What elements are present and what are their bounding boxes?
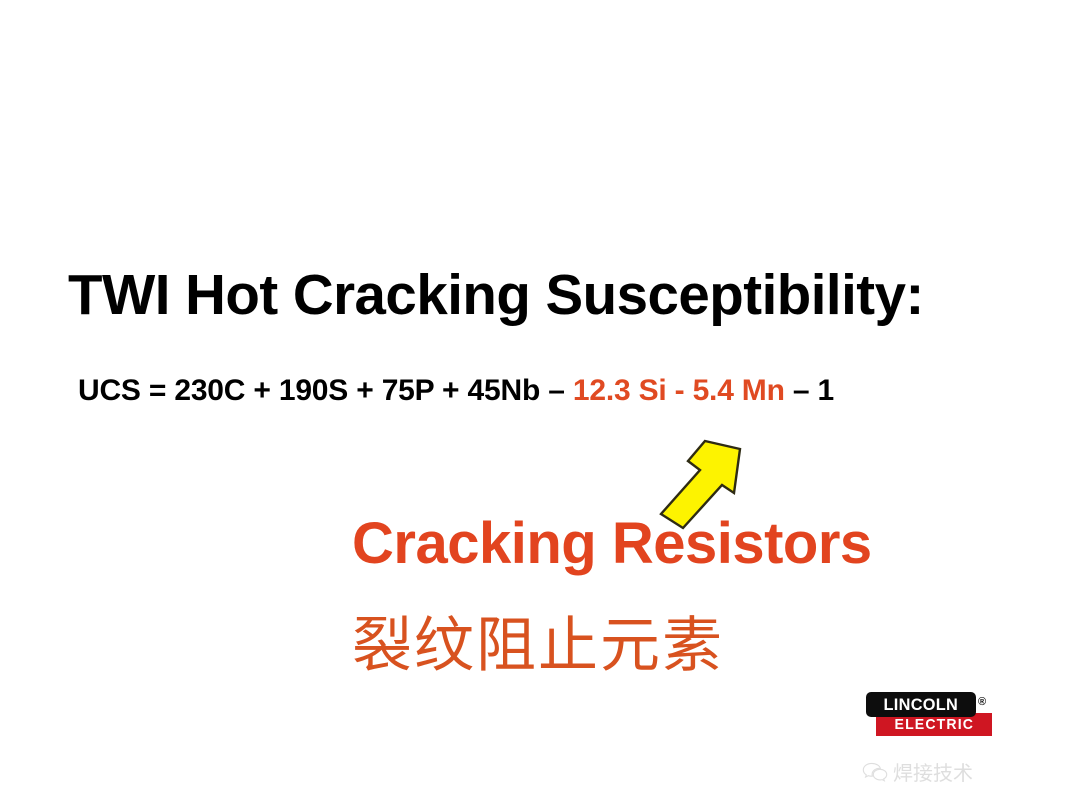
logo-secondary-text: ELECTRIC [894, 716, 974, 733]
wechat-icon [862, 762, 888, 784]
logo-lincoln-box: LINCOLN [866, 692, 976, 717]
ucs-formula: UCS = 230C + 190S + 75P + 45Nb – 12.3 Si… [78, 372, 1038, 410]
logo-primary-text: LINCOLN [884, 695, 959, 715]
slide-canvas: TWI Hot Cracking Susceptibility: UCS = 2… [0, 0, 1080, 810]
registered-trademark-icon: ® [978, 696, 986, 708]
callout-english: Cracking Resistors [352, 508, 872, 580]
callout-chinese: 裂纹阻止元素 [352, 608, 724, 684]
formula-suffix: – 1 [785, 374, 834, 407]
formula-prefix: UCS = 230C + 190S + 75P + 45Nb – [78, 374, 573, 407]
formula-highlight: 12.3 Si - 5.4 Mn [573, 374, 785, 407]
watermark: 焊接技术 [862, 758, 973, 788]
lincoln-electric-logo: ELECTRIC LINCOLN ® [866, 692, 992, 742]
watermark-text: 焊接技术 [893, 762, 973, 784]
page-title: TWI Hot Cracking Susceptibility: [68, 262, 1018, 328]
